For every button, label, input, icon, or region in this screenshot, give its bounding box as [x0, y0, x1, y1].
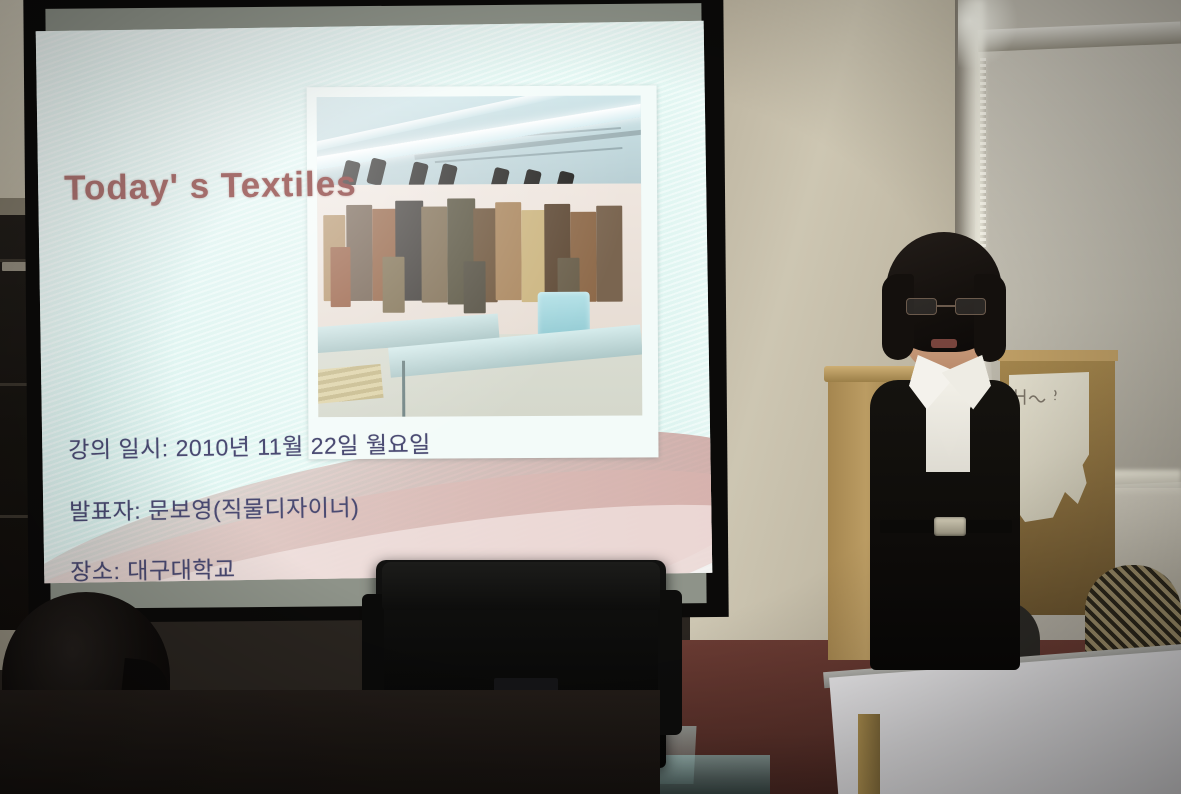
slide-line-presenter: 발표자: 문보영(직물디자이너) [69, 488, 360, 527]
photo-table-leg [402, 361, 405, 417]
fabric-swatch [596, 206, 623, 302]
bag-top-flap[interactable] [382, 562, 660, 610]
slide-photo-frame [307, 85, 659, 459]
glasses-lens-right [955, 298, 986, 315]
desk-leg [858, 714, 880, 794]
classroom-presentation-photo: Today' s Textiles 강의 일시: 2010년 11월 22일 월… [0, 0, 1181, 794]
slide-line-venue: 장소: 대구대학교 [70, 550, 236, 583]
presenter-hair-left [882, 274, 914, 360]
slide-line-date: 강의 일시: 2010년 11월 22일 월요일 [68, 425, 431, 465]
glasses-bridge [937, 305, 955, 307]
projected-slide: Today' s Textiles 강의 일시: 2010년 11월 22일 월… [36, 21, 713, 583]
window-highlight [958, 0, 1018, 70]
glasses-icon [904, 298, 988, 315]
fabric-swatch [421, 206, 448, 302]
fabric-swatch [330, 247, 350, 307]
presenter [838, 232, 1048, 662]
presenter-hair-right [974, 274, 1006, 362]
foreground-shadow [0, 690, 660, 794]
presenter-mouth [931, 339, 957, 348]
fabric-swatch [521, 210, 545, 302]
photo-folded-fabric-stack [317, 364, 383, 404]
fabric-swatch [495, 202, 522, 300]
houndstooth-coat [1085, 565, 1181, 655]
fabric-swatch [382, 257, 404, 313]
slide-photo-textile-showroom [317, 95, 643, 417]
glasses-lens-left [906, 298, 937, 315]
bag-side-pocket-right [658, 590, 682, 735]
presenter-belt-buckle [934, 517, 966, 536]
slide-title: Today' s Textiles [64, 164, 357, 209]
fabric-swatch [463, 261, 485, 313]
